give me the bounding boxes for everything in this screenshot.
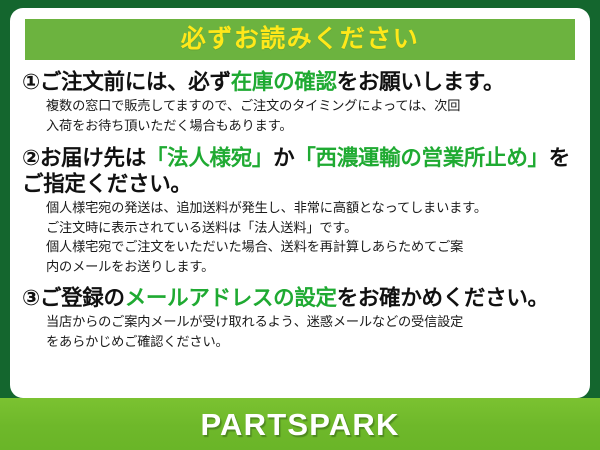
notice-item-1-heading-before: ご注文前には、必ず [40,70,231,94]
notice-item-2-note: 個人様宅宛の発送は、追加送料が発生し、非常に高額となってしまいます。 ご注文時に… [22,198,578,276]
notice-item-2: ②お届け先は「法人様宛」か「西濃運輸の営業所止め」をご指定ください。 個人様宅宛… [22,145,578,276]
brand-logo: PARTSPARK [200,409,399,440]
notice-list: ①ご注文前には、必ず在庫の確認をお願いします。 複数の窓口で販売してますので、ご… [10,60,590,351]
notice-panel: 必ずお読みください ①ご注文前には、必ず在庫の確認をお願いします。 複数の窓口で… [10,8,590,398]
notice-item-3-note: 当店からのご案内メールが受け取れるよう、迷惑メールなどの受信設定 をあらかじめご… [22,312,578,351]
notice-item-1-note: 複数の窓口で販売してますので、ご注文のタイミングによっては、次回 入荷をお待ち頂… [22,96,578,135]
notice-item-3-heading-before: ご登録の [40,286,125,310]
title-banner: 必ずお読みください [25,19,575,60]
notice-item-1-heading-after: をお願いします。 [337,70,504,94]
footer-band: PARTSPARK [0,398,600,450]
notice-item-1-heading-highlight: 在庫の確認 [231,70,337,94]
notice-item-2-heading-highlight: 「法人様宛」 [146,146,273,170]
banner-title: 必ずお読みください [181,27,420,52]
notice-item-3: ③ご登録のメールアドレスの設定をお確かめください。 当店からのご案内メールが受け… [22,285,578,351]
notice-item-1: ①ご注文前には、必ず在庫の確認をお願いします。 複数の窓口で販売してますので、ご… [22,69,578,135]
notice-item-3-heading-highlight: メールアドレスの設定 [125,286,337,310]
notice-item-1-number: ① [22,70,40,94]
notice-item-2-heading-middle: か [273,146,294,170]
notice-item-3-heading-after: をお確かめください。 [337,286,549,310]
notice-item-2-number: ② [22,146,40,170]
notice-item-2-heading-before: お届け先は [40,146,146,170]
notice-item-3-number: ③ [22,286,40,310]
notice-item-3-heading: ③ご登録のメールアドレスの設定をお確かめください。 [22,285,578,311]
notice-frame: 必ずお読みください ①ご注文前には、必ず在庫の確認をお願いします。 複数の窓口で… [0,0,600,450]
notice-item-2-heading: ②お届け先は「法人様宛」か「西濃運輸の営業所止め」をご指定ください。 [22,145,578,197]
notice-item-2-heading-highlight-2: 「西濃運輸の営業所止め」 [294,146,548,170]
notice-item-1-heading: ①ご注文前には、必ず在庫の確認をお願いします。 [22,69,578,95]
